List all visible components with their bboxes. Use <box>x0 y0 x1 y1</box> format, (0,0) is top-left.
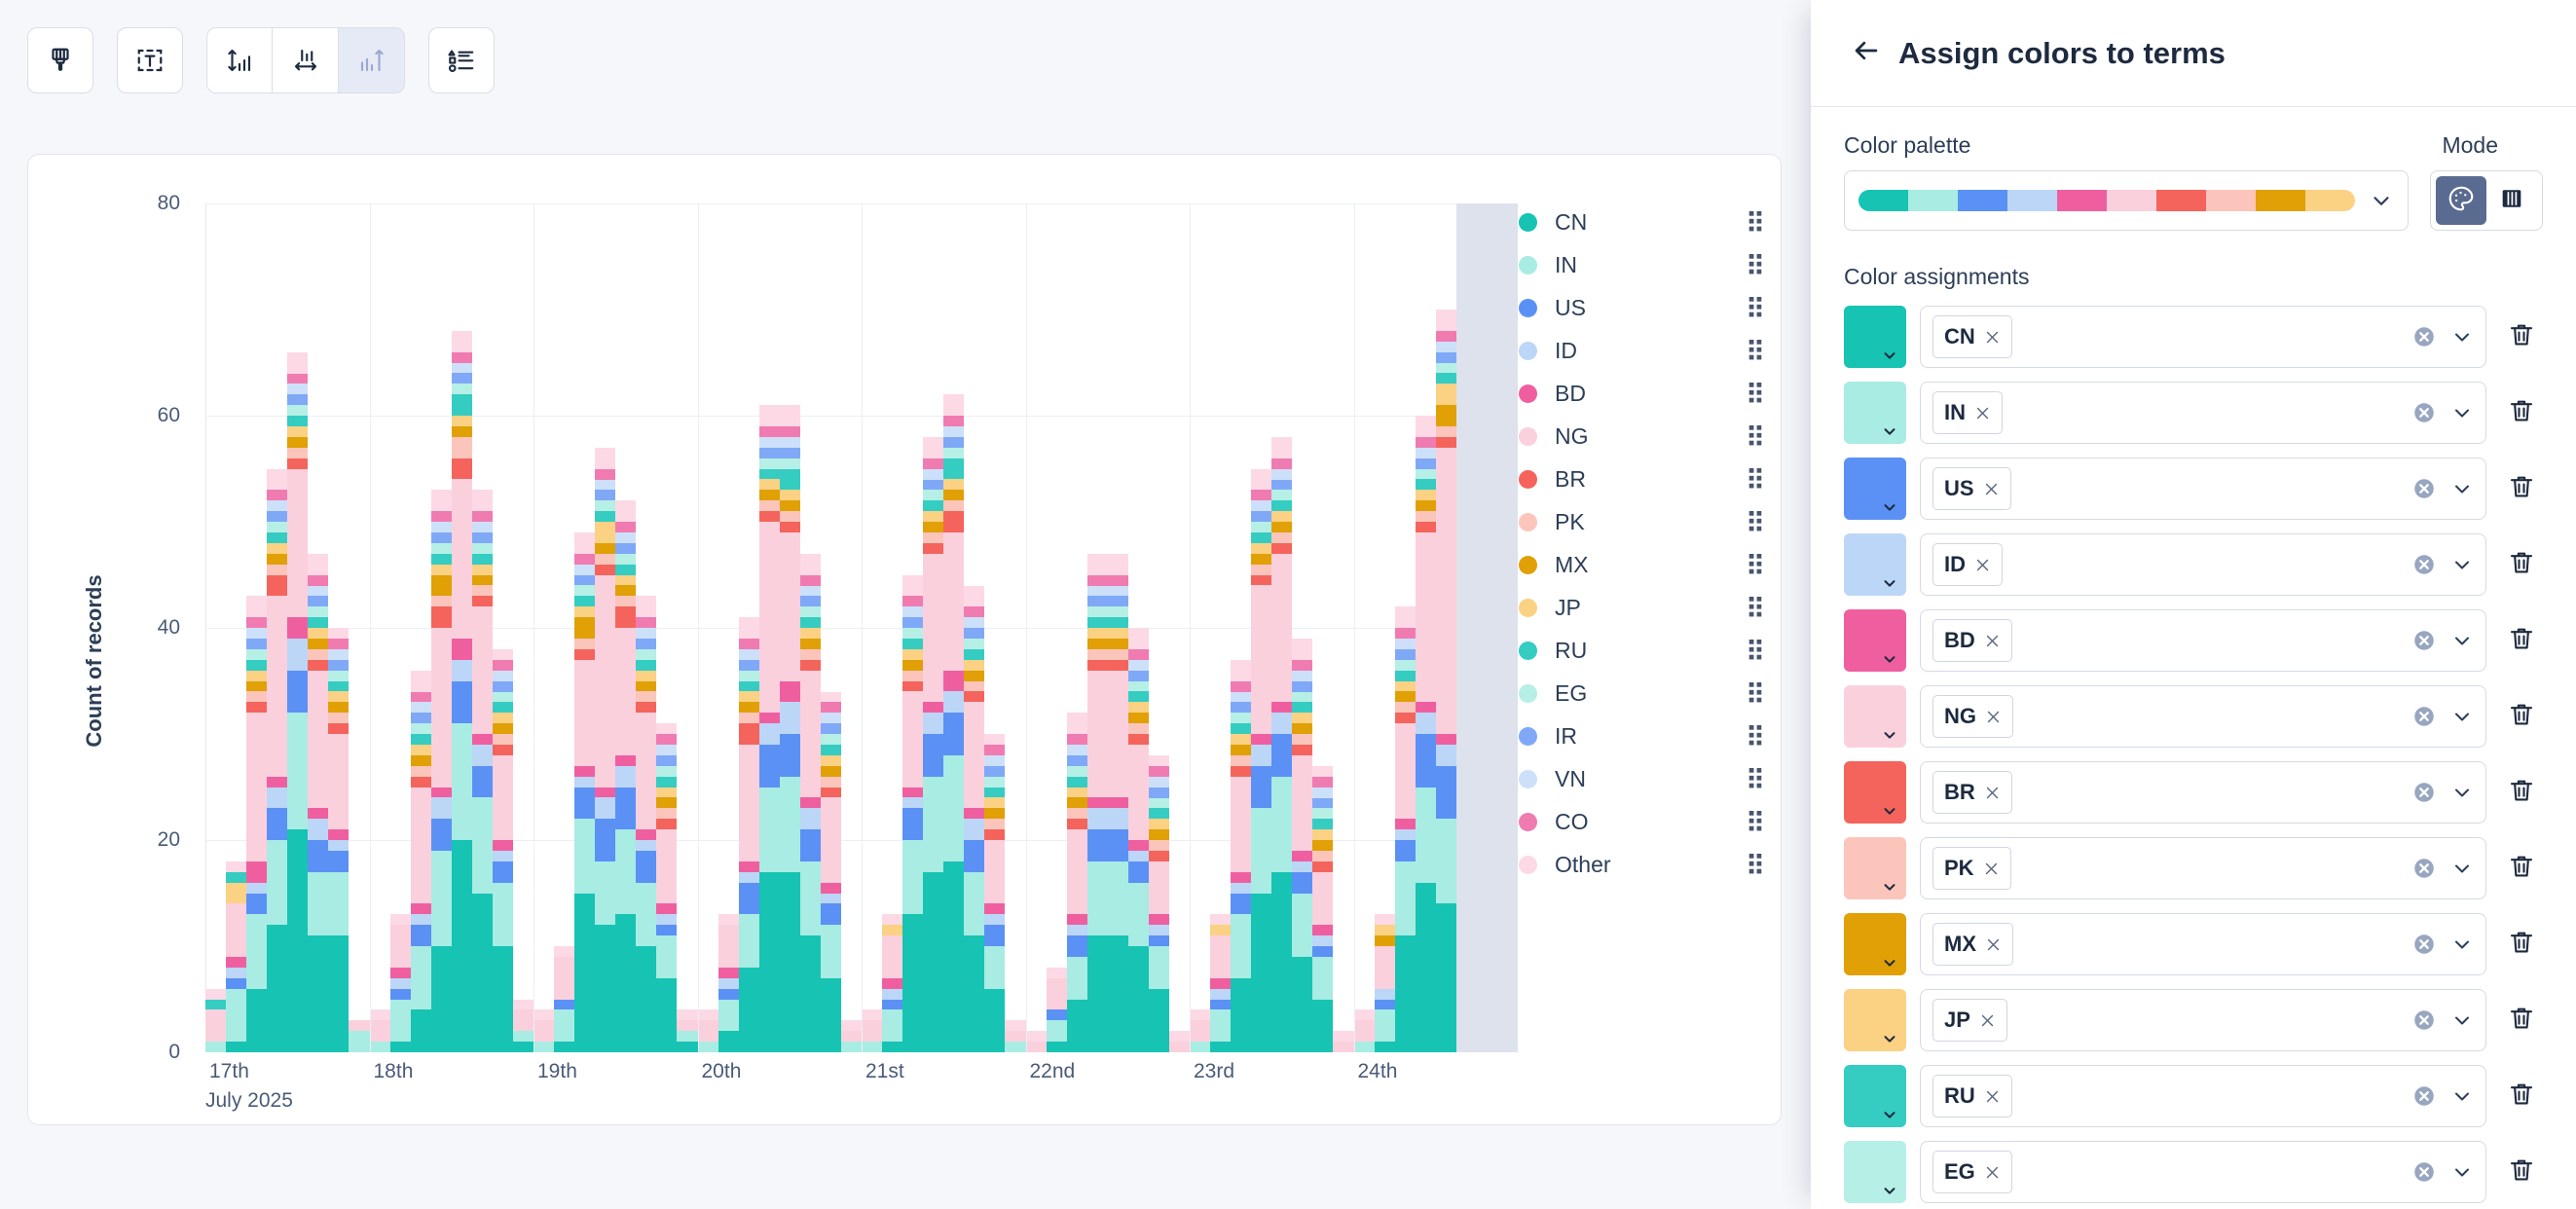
bar-segment[interactable] <box>1190 1042 1210 1052</box>
bar-segment[interactable] <box>226 968 246 978</box>
bar-segment[interactable] <box>1128 628 1149 649</box>
bar-segment[interactable] <box>472 522 493 532</box>
drag-handle-icon[interactable] <box>1748 383 1762 404</box>
bar-segment[interactable] <box>452 458 472 480</box>
bar-segment[interactable] <box>739 671 759 681</box>
bar-segment[interactable] <box>739 639 759 649</box>
bar-segment[interactable] <box>328 713 349 723</box>
bar-segment[interactable] <box>554 957 574 1000</box>
bar-segment[interactable] <box>267 511 287 522</box>
bar-segment[interactable] <box>615 575 636 586</box>
bar-segment[interactable] <box>246 883 267 894</box>
bar-segment[interactable] <box>472 745 493 766</box>
table-row[interactable] <box>246 203 267 1052</box>
bar-segment[interactable] <box>780 437 800 448</box>
bar-segment[interactable] <box>328 734 349 829</box>
bar-segment[interactable] <box>595 819 615 861</box>
bar-segment[interactable] <box>841 1020 862 1031</box>
bar-segment[interactable] <box>1149 851 1169 861</box>
bar-segment[interactable] <box>1149 946 1169 989</box>
bar-segment[interactable] <box>534 1009 554 1020</box>
bar-segment[interactable] <box>1416 788 1436 883</box>
bar-segment[interactable] <box>1149 788 1169 798</box>
bar-segment[interactable] <box>411 903 431 914</box>
bar-segment[interactable] <box>1108 639 1128 649</box>
legend-item-in[interactable]: IN <box>1519 243 1762 286</box>
bar-segment[interactable] <box>821 692 841 703</box>
bar-segment[interactable] <box>1375 989 1395 1000</box>
bar-segment[interactable] <box>759 458 780 469</box>
bar-segment[interactable] <box>226 872 246 883</box>
bar-segment[interactable] <box>923 480 943 491</box>
bar-segment[interactable] <box>226 1042 246 1052</box>
bar-segment[interactable] <box>246 639 267 649</box>
bar-segment[interactable] <box>1149 925 1169 935</box>
bar-segment[interactable] <box>1436 437 1456 448</box>
bar-segment[interactable] <box>923 458 943 469</box>
bar-segment[interactable] <box>615 766 636 788</box>
bar-segment[interactable] <box>452 426 472 437</box>
bar-segment[interactable] <box>1436 426 1456 437</box>
bar-segment[interactable] <box>882 1009 902 1042</box>
bar-segment[interactable] <box>1292 702 1312 713</box>
bar-segment[interactable] <box>964 840 984 872</box>
bar-segment[interactable] <box>1312 777 1333 788</box>
table-row[interactable] <box>493 203 513 1052</box>
bar-segment[interactable] <box>1271 490 1292 500</box>
color-palette-select[interactable] <box>1844 170 2409 231</box>
bar-segment[interactable] <box>677 1020 697 1031</box>
bar-segment[interactable] <box>984 946 1005 989</box>
bar-segment[interactable] <box>431 596 452 606</box>
bar-segment[interactable] <box>246 681 267 692</box>
bar-segment[interactable] <box>452 437 472 458</box>
bar-segment[interactable] <box>226 883 246 904</box>
chevron-down-icon[interactable] <box>2450 401 2474 424</box>
bar-segment[interactable] <box>1087 617 1108 628</box>
color-swatch-picker[interactable] <box>1844 837 1906 899</box>
bar-segment[interactable] <box>615 565 636 575</box>
bar-segment[interactable] <box>1271 522 1292 532</box>
bar-segment[interactable] <box>308 872 328 935</box>
bar-segment[interactable] <box>902 691 923 787</box>
bar-segment[interactable] <box>1067 755 1087 766</box>
delete-assignment-button[interactable] <box>2500 543 2543 586</box>
bar-segment[interactable] <box>595 925 615 1052</box>
bar-segment[interactable] <box>780 469 800 491</box>
bar-segment[interactable] <box>1416 448 1436 458</box>
bar-segment[interactable] <box>452 723 472 840</box>
bar-segment[interactable] <box>431 797 452 819</box>
bar-segment[interactable] <box>1251 532 1271 543</box>
bar-segment[interactable] <box>1067 734 1087 745</box>
table-row[interactable] <box>287 203 308 1052</box>
table-row[interactable] <box>1210 203 1231 1052</box>
bar-segment[interactable] <box>1292 894 1312 957</box>
bar-segment[interactable] <box>759 405 780 426</box>
bar-segment[interactable] <box>615 788 636 830</box>
bar-segment[interactable] <box>739 660 759 671</box>
legend-item-co[interactable]: CO <box>1519 800 1762 843</box>
bar-segment[interactable] <box>452 416 472 426</box>
bar-segment[interactable] <box>452 479 472 639</box>
bar-segment[interactable] <box>370 1042 390 1052</box>
bar-segment[interactable] <box>1292 692 1312 703</box>
bar-segment[interactable] <box>595 543 615 554</box>
bar-segment[interactable] <box>1292 851 1312 861</box>
bar-segment[interactable] <box>1087 554 1108 575</box>
bar-segment[interactable] <box>1395 606 1416 628</box>
bar-segment[interactable] <box>390 968 411 978</box>
bar-segment[interactable] <box>718 1000 739 1032</box>
bar-segment[interactable] <box>1436 342 1456 352</box>
bar-segment[interactable] <box>349 1020 369 1031</box>
term-combobox[interactable]: BD <box>1920 609 2486 672</box>
legend-item-vn[interactable]: VN <box>1519 757 1762 800</box>
bar-segment[interactable] <box>943 426 964 437</box>
back-button[interactable] <box>1844 31 1889 76</box>
table-row[interactable] <box>636 203 656 1052</box>
bar-segment[interactable] <box>493 851 513 861</box>
bar-segment[interactable] <box>411 788 431 904</box>
bar-segment[interactable] <box>1149 755 1169 766</box>
bar-segment[interactable] <box>328 702 349 713</box>
bar-segment[interactable] <box>656 745 677 755</box>
color-swatch-picker[interactable] <box>1844 1065 1906 1127</box>
bar-segment[interactable] <box>984 819 1005 829</box>
bar-segment[interactable] <box>349 1031 369 1052</box>
bar-segment[interactable] <box>1395 639 1416 649</box>
drag-handle-icon[interactable] <box>1748 725 1762 747</box>
bar-segment[interactable] <box>1416 511 1436 522</box>
drag-handle-icon[interactable] <box>1748 211 1762 233</box>
bar-segment[interactable] <box>1047 978 1067 1010</box>
bar-segment[interactable] <box>574 894 595 1053</box>
bar-segment[interactable] <box>821 894 841 904</box>
bar-segment[interactable] <box>902 840 923 914</box>
bar-segment[interactable] <box>1292 660 1312 671</box>
bar-segment[interactable] <box>1292 713 1312 723</box>
bar-segment[interactable] <box>1087 797 1108 808</box>
bar-segment[interactable] <box>287 829 308 1052</box>
bar-segment[interactable] <box>984 797 1005 808</box>
bar-segment[interactable] <box>287 426 308 437</box>
bar-segment[interactable] <box>821 925 841 978</box>
bar-segment[interactable] <box>390 914 411 925</box>
bar-segment[interactable] <box>780 490 800 500</box>
bar-segment[interactable] <box>1292 872 1312 894</box>
delete-assignment-button[interactable] <box>2500 695 2543 738</box>
bar-segment[interactable] <box>246 914 267 988</box>
bar-segment[interactable] <box>943 490 964 500</box>
bar-segment[interactable] <box>821 745 841 755</box>
bar-segment[interactable] <box>308 554 328 575</box>
bar-segment[interactable] <box>780 458 800 469</box>
bar-segment[interactable] <box>595 788 615 798</box>
bar-segment[interactable] <box>1087 639 1108 649</box>
bar-segment[interactable] <box>800 797 821 808</box>
chevron-down-icon[interactable] <box>2450 781 2474 804</box>
table-row[interactable] <box>1026 203 1047 1052</box>
bar-segment[interactable] <box>431 628 452 788</box>
bar-segment[interactable] <box>615 914 636 1052</box>
bar-segment[interactable] <box>1210 935 1231 978</box>
bar-segment[interactable] <box>1067 1000 1087 1053</box>
table-row[interactable] <box>226 203 246 1052</box>
bar-segment[interactable] <box>1395 840 1416 861</box>
drag-handle-icon[interactable] <box>1748 254 1762 275</box>
bar-segment[interactable] <box>1395 935 1416 1052</box>
term-combobox[interactable]: ID <box>1920 533 2486 596</box>
bar-segment[interactable] <box>328 649 349 660</box>
bar-segment[interactable] <box>411 671 431 692</box>
close-icon[interactable] <box>1983 861 2000 877</box>
bar-segment[interactable] <box>656 978 677 1052</box>
table-row[interactable] <box>718 203 739 1052</box>
bar-segment[interactable] <box>1312 935 1333 946</box>
drag-handle-icon[interactable] <box>1748 340 1762 361</box>
bar-segment[interactable] <box>1271 554 1292 703</box>
bar-segment[interactable] <box>246 660 267 671</box>
bar-segment[interactable] <box>574 575 595 586</box>
bar-segment[interactable] <box>1436 734 1456 745</box>
table-row[interactable] <box>1149 203 1169 1052</box>
bar-segment[interactable] <box>1271 872 1292 1052</box>
bar-segment[interactable] <box>1108 671 1128 798</box>
delete-assignment-button[interactable] <box>2500 1151 2543 1193</box>
bar-segment[interactable] <box>821 734 841 745</box>
bar-segment[interactable] <box>287 437 308 448</box>
bar-segment[interactable] <box>308 935 328 1052</box>
delete-assignment-button[interactable] <box>2500 391 2543 434</box>
bar-segment[interactable] <box>656 925 677 935</box>
bar-segment[interactable] <box>472 734 493 745</box>
bar-segment[interactable] <box>595 448 615 469</box>
chevron-down-icon[interactable] <box>2450 1084 2474 1108</box>
bar-segment[interactable] <box>636 713 656 829</box>
bar-segment[interactable] <box>759 511 780 522</box>
bar-segment[interactable] <box>1251 500 1271 511</box>
bar-segment[interactable] <box>615 606 636 628</box>
bar-segment[interactable] <box>780 522 800 532</box>
mode-gradient-button[interactable] <box>2486 176 2537 225</box>
delete-assignment-button[interactable] <box>2500 771 2543 814</box>
bar-segment[interactable] <box>493 681 513 692</box>
bar-segment[interactable] <box>534 1020 554 1042</box>
clear-selection-icon[interactable] <box>2411 932 2437 957</box>
bar-segment[interactable] <box>943 394 964 416</box>
bar-segment[interactable] <box>636 840 656 851</box>
bar-segment[interactable] <box>821 788 841 798</box>
bar-segment[interactable] <box>493 649 513 660</box>
bar-segment[interactable] <box>902 628 923 639</box>
bar-segment[interactable] <box>923 500 943 511</box>
bar-segment[interactable] <box>493 723 513 734</box>
bar-segment[interactable] <box>287 405 308 416</box>
bar-segment[interactable] <box>943 479 964 490</box>
bar-segment[interactable] <box>328 660 349 671</box>
table-row[interactable] <box>739 203 759 1052</box>
bar-segment[interactable] <box>390 978 411 989</box>
bar-segment[interactable] <box>452 394 472 416</box>
bar-segment[interactable] <box>431 522 452 532</box>
bar-segment[interactable] <box>943 458 964 480</box>
bar-segment[interactable] <box>267 788 287 809</box>
bar-segment[interactable] <box>1108 554 1128 575</box>
bar-segment[interactable] <box>739 702 759 713</box>
bar-segment[interactable] <box>780 500 800 511</box>
table-row[interactable] <box>964 203 984 1052</box>
bar-segment[interactable] <box>1271 458 1292 469</box>
bar-segment[interactable] <box>493 660 513 671</box>
bar-segment[interactable] <box>267 469 287 491</box>
bar-segment[interactable] <box>698 1020 718 1042</box>
bar-segment[interactable] <box>328 691 349 702</box>
bar-segment[interactable] <box>1251 734 1271 745</box>
bar-segment[interactable] <box>984 914 1005 925</box>
bar-segment[interactable] <box>923 469 943 480</box>
bar-segment[interactable] <box>328 872 349 935</box>
clear-selection-icon[interactable] <box>2411 552 2437 577</box>
bar-segment[interactable] <box>636 681 656 692</box>
bar-segment[interactable] <box>1395 681 1416 692</box>
bar-segment[interactable] <box>287 416 308 426</box>
bar-segment[interactable] <box>554 1000 574 1010</box>
bar-segment[interactable] <box>780 405 800 426</box>
bar-segment[interactable] <box>493 883 513 946</box>
bar-segment[interactable] <box>1128 691 1149 702</box>
bar-segment[interactable] <box>964 702 984 808</box>
term-combobox[interactable]: MX <box>1920 913 2486 975</box>
bar-segment[interactable] <box>759 469 780 480</box>
bar-segment[interactable] <box>1436 745 1456 766</box>
bar-segment[interactable] <box>287 617 308 639</box>
bar-segment[interactable] <box>267 532 287 543</box>
bar-segment[interactable] <box>1312 829 1333 840</box>
bar-segment[interactable] <box>636 639 656 649</box>
bar-segment[interactable] <box>287 384 308 394</box>
bar-segment[interactable] <box>493 671 513 681</box>
drag-handle-icon[interactable] <box>1748 297 1762 318</box>
clear-selection-icon[interactable] <box>2411 704 2437 729</box>
bar-segment[interactable] <box>943 500 964 511</box>
bar-segment[interactable] <box>1231 734 1251 745</box>
close-icon[interactable] <box>1984 1164 2001 1181</box>
bar-segment[interactable] <box>739 723 759 745</box>
bar-segment[interactable] <box>718 914 739 925</box>
bar-segment[interactable] <box>411 702 431 713</box>
bar-segment[interactable] <box>923 734 943 777</box>
bar-segment[interactable] <box>780 734 800 777</box>
bar-segment[interactable] <box>1395 723 1416 819</box>
term-combobox[interactable]: EG <box>1920 1141 2486 1203</box>
bar-segment[interactable] <box>308 617 328 628</box>
bar-segment[interactable] <box>472 565 493 575</box>
bar-segment[interactable] <box>1108 596 1128 606</box>
chevron-down-icon[interactable] <box>2450 629 2474 652</box>
bar-segment[interactable] <box>431 532 452 543</box>
bar-segment[interactable] <box>493 840 513 851</box>
bar-segment[interactable] <box>902 575 923 597</box>
bar-segment[interactable] <box>902 660 923 671</box>
bar-segment[interactable] <box>328 935 349 1052</box>
bar-segment[interactable] <box>595 861 615 925</box>
bar-segment[interactable] <box>800 861 821 935</box>
stacked-axis-scale-button[interactable] <box>339 27 405 93</box>
bar-segment[interactable] <box>1128 840 1149 851</box>
bar-segment[interactable] <box>1292 745 1312 755</box>
bar-segment[interactable] <box>1149 766 1169 777</box>
bar-segment[interactable] <box>943 511 964 532</box>
bar-segment[interactable] <box>1416 469 1436 480</box>
bar-segment[interactable] <box>411 755 431 766</box>
bar-segment[interactable] <box>739 681 759 692</box>
bar-segment[interactable] <box>574 777 595 788</box>
bar-segment[interactable] <box>574 532 595 554</box>
bar-segment[interactable] <box>493 692 513 703</box>
bar-segment[interactable] <box>595 500 615 511</box>
bar-segment[interactable] <box>431 554 452 565</box>
bar-segment[interactable] <box>534 1042 554 1052</box>
bar-segment[interactable] <box>452 681 472 724</box>
bar-segment[interactable] <box>574 554 595 565</box>
bar-segment[interactable] <box>636 617 656 628</box>
bar-segment[interactable] <box>554 1009 574 1042</box>
clear-selection-icon[interactable] <box>2411 856 2437 881</box>
bar-segment[interactable] <box>328 639 349 649</box>
bar-segment[interactable] <box>780 681 800 703</box>
bar-segment[interactable] <box>1169 1031 1190 1042</box>
bar-segment[interactable] <box>759 490 780 500</box>
bar-segment[interactable] <box>1271 511 1292 522</box>
bar-segment[interactable] <box>267 500 287 511</box>
delete-assignment-button[interactable] <box>2500 1075 2543 1117</box>
bar-segment[interactable] <box>902 617 923 628</box>
bar-segment[interactable] <box>1271 532 1292 543</box>
table-row[interactable] <box>698 203 718 1052</box>
bar-segment[interactable] <box>1312 851 1333 861</box>
bar-segment[interactable] <box>943 532 964 671</box>
bar-segment[interactable] <box>1067 777 1087 788</box>
bar-segment[interactable] <box>1271 480 1292 491</box>
bar-segment[interactable] <box>964 639 984 649</box>
clear-selection-icon[interactable] <box>2411 1083 2437 1109</box>
bar-segment[interactable] <box>246 861 267 883</box>
bar-segment[interactable] <box>390 989 411 1000</box>
table-row[interactable] <box>1333 203 1353 1052</box>
color-swatch-picker[interactable] <box>1844 382 1906 444</box>
bar-segment[interactable] <box>943 755 964 861</box>
bar-segment[interactable] <box>943 448 964 458</box>
bar-segment[interactable] <box>431 565 452 575</box>
bar-segment[interactable] <box>759 872 780 1052</box>
bar-segment[interactable] <box>1128 649 1149 660</box>
bar-segment[interactable] <box>1436 352 1456 363</box>
bar-segment[interactable] <box>595 511 615 522</box>
bar-segment[interactable] <box>636 649 656 660</box>
table-row[interactable] <box>1395 203 1416 1052</box>
bar-segment[interactable] <box>574 606 595 617</box>
bar-segment[interactable] <box>1231 702 1251 713</box>
bar-segment[interactable] <box>308 596 328 606</box>
bar-segment[interactable] <box>472 606 493 734</box>
bar-segment[interactable] <box>595 490 615 500</box>
bar-segment[interactable] <box>718 1031 739 1052</box>
bar-segment[interactable] <box>595 565 615 575</box>
bar-segment[interactable] <box>800 617 821 628</box>
bar-segment[interactable] <box>1271 734 1292 777</box>
table-row[interactable] <box>1436 203 1456 1052</box>
